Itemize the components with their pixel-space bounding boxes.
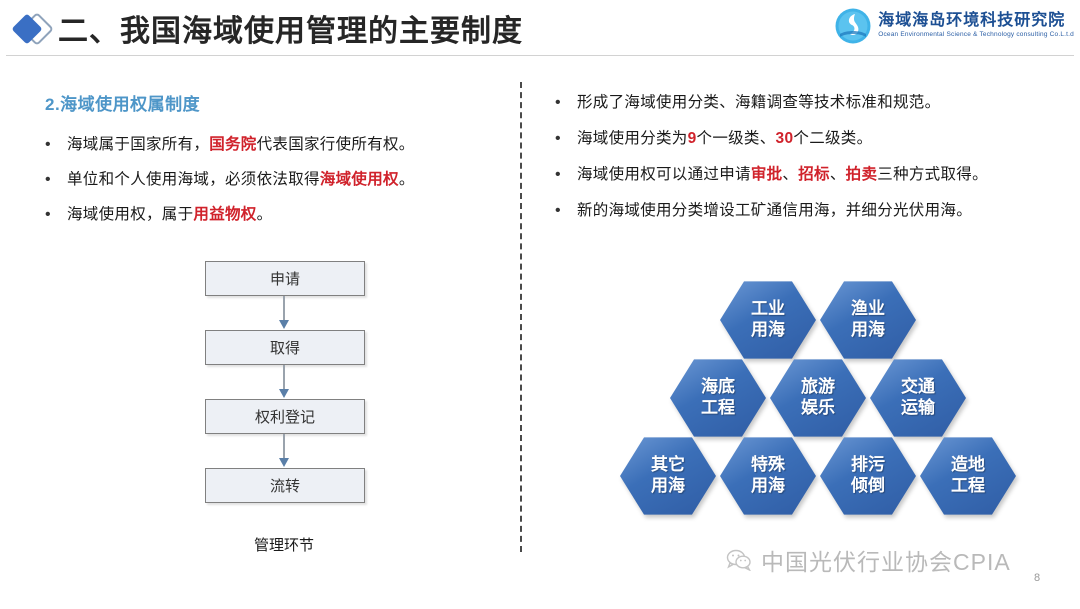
left-bullet-text: 海域属于国家所有，国务院代表国家行使所有权。 [67,134,415,156]
highlighted-term: 审批 [751,166,783,183]
right-bullet-list: •形成了海域使用分类、海籍调查等技术标准和规范。•海域使用分类为9个一级类、30… [555,92,1075,236]
right-bullet-text: 形成了海域使用分类、海籍调查等技术标准和规范。 [577,92,940,114]
wechat-icon [726,549,752,571]
plain-text: 新的海域使用分类增设工矿通信用海，并细分光伏用海。 [577,202,972,219]
hex-category-tile: 渔业 用海 [820,278,916,362]
slide-header: 二、我国海域使用管理的主要制度 海域海岛环境科技研究院 Ocean Enviro… [0,0,1080,56]
flow-step-box: 取得 [205,330,365,365]
watermark-text: 中国光伏行业协会CPIA [761,543,1011,577]
left-bullet-text: 海域使用权，属于用益物权。 [67,204,272,226]
plain-text: 海域使用分类为 [577,130,688,147]
hex-category-tile: 排污 倾倒 [820,434,916,518]
hex-category-tile: 交通 运输 [870,356,966,440]
plain-text: 海域使用权可以通过申请 [577,166,751,183]
right-column: •形成了海域使用分类、海籍调查等技术标准和规范。•海域使用分类为9个一级类、30… [520,56,1080,609]
plain-text: 形成了海域使用分类、海籍调查等技术标准和规范。 [577,94,940,111]
hex-row: 工业 用海渔业 用海 [608,278,1028,362]
flow-arrow-icon [205,365,363,399]
plain-text: 海域属于国家所有， [67,136,209,153]
institute-logo: 海域海岛环境科技研究院 Ocean Environmental Science … [834,4,1074,48]
hex-category-label: 旅游 娱乐 [801,377,835,419]
wechat-watermark: 中国光伏行业协会CPIA [726,543,1011,577]
left-column: 2.海域使用权属制度 •海域属于国家所有，国务院代表国家行使所有权。•单位和个人… [0,56,518,609]
hex-category-label: 其它 用海 [651,455,685,497]
hex-category-label: 海底 工程 [701,377,735,419]
ocean-wave-circle-logo-icon [834,7,872,45]
left-bullet-text: 单位和个人使用海域，必须依法取得海域使用权。 [67,169,415,191]
right-bullet-text: 海域使用分类为9个一级类、30个二级类。 [577,128,872,150]
plain-text: 三种方式取得。 [877,166,988,183]
highlighted-term: 9 [688,130,697,147]
bullet-dot-icon: • [45,134,67,156]
section-heading: 2.海域使用权属制度 [45,90,200,115]
bullet-dot-icon: • [45,169,67,191]
flow-arrow-icon [205,434,363,468]
highlighted-term: 招标 [798,166,830,183]
flow-step-box: 流转 [205,468,365,503]
plain-text: 个一级类、 [697,130,776,147]
hex-category-tile: 海底 工程 [670,356,766,440]
right-bullet-text: 新的海域使用分类增设工矿通信用海，并细分光伏用海。 [577,200,972,222]
flowchart-caption: 管理环节 [205,534,363,555]
logo-chinese-name: 海域海岛环境科技研究院 [878,13,1074,29]
right-bullet-text: 海域使用权可以通过申请审批、招标、拍卖三种方式取得。 [577,164,988,186]
highlighted-term: 国务院 [209,136,256,153]
hex-category-label: 排污 倾倒 [851,455,885,497]
plain-text: 代表国家行使所有权。 [257,136,415,153]
hex-category-tile: 特殊 用海 [720,434,816,518]
hex-category-label: 造地 工程 [951,455,985,497]
bullet-dot-icon: • [555,92,577,114]
hex-category-tile: 工业 用海 [720,278,816,362]
page-number: 8 [1034,572,1040,584]
right-bullet-item: •形成了海域使用分类、海籍调查等技术标准和规范。 [555,92,1075,114]
hex-category-tile: 其它 用海 [620,434,716,518]
bullet-dot-icon: • [45,204,67,226]
plain-text: 。 [399,171,415,188]
plain-text: 单位和个人使用海域，必须依法取得 [67,171,320,188]
right-bullet-item: •新的海域使用分类增设工矿通信用海，并细分光伏用海。 [555,200,1075,222]
hex-row: 其它 用海特殊 用海排污 倾倒造地 工程 [608,434,1028,518]
bullet-dot-icon: • [555,128,577,150]
right-bullet-item: •海域使用分类为9个一级类、30个二级类。 [555,128,1075,150]
double-diamond-icon [12,12,60,46]
management-flowchart: 申请取得权利登记流转 [205,261,365,503]
logo-english-name: Ocean Environmental Science & Technology… [878,32,1074,39]
plain-text: 。 [257,206,273,223]
hex-category-tile: 造地 工程 [920,434,1016,518]
left-bullet-item: •单位和个人使用海域，必须依法取得海域使用权。 [45,169,500,191]
sea-use-category-hex-pyramid: 工业 用海渔业 用海海底 工程旅游 娱乐交通 运输其它 用海特殊 用海排污 倾倒… [608,278,1028,518]
hex-category-label: 交通 运输 [901,377,935,419]
plain-text: 、 [782,166,798,183]
right-bullet-item: •海域使用权可以通过申请审批、招标、拍卖三种方式取得。 [555,164,1075,186]
hex-category-label: 渔业 用海 [851,299,885,341]
highlighted-term: 海域使用权 [320,171,399,188]
highlighted-term: 30 [776,130,794,147]
page-title: 二、我国海域使用管理的主要制度 [58,6,523,50]
hex-row: 海底 工程旅游 娱乐交通 运输 [608,356,1028,440]
flow-step-box: 权利登记 [205,399,365,434]
left-bullet-list: •海域属于国家所有，国务院代表国家行使所有权。•单位和个人使用海域，必须依法取得… [45,134,500,239]
plain-text: 、 [830,166,846,183]
bullet-dot-icon: • [555,164,577,186]
hex-category-label: 工业 用海 [751,299,785,341]
left-bullet-item: •海域使用权，属于用益物权。 [45,204,500,226]
highlighted-term: 拍卖 [846,166,878,183]
highlighted-term: 用益物权 [193,206,256,223]
plain-text: 海域使用权，属于 [67,206,193,223]
bullet-dot-icon: • [555,200,577,222]
flow-arrow-icon [205,296,363,330]
left-bullet-item: •海域属于国家所有，国务院代表国家行使所有权。 [45,134,500,156]
plain-text: 个二级类。 [793,130,872,147]
hex-category-label: 特殊 用海 [751,455,785,497]
flow-step-box: 申请 [205,261,365,296]
hex-category-tile: 旅游 娱乐 [770,356,866,440]
